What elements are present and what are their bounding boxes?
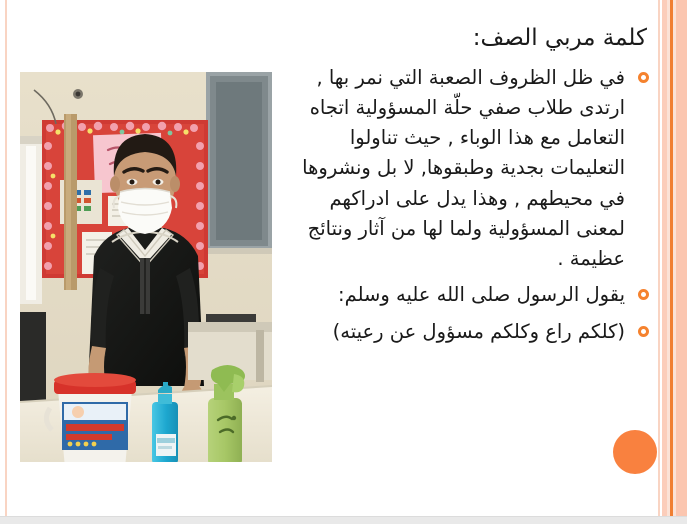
bullet-item-3: (كلكم راع وكلكم مسؤول عن رعيته) xyxy=(291,317,651,347)
band-stripe-1 xyxy=(658,0,660,517)
bullet-ring-icon xyxy=(638,326,649,337)
bullet-item-1: في ظل الظروف الصعبة التي نمر بها , ارتدى… xyxy=(291,63,651,275)
slide-text-column: كلمة مربي الصف: في ظل الظروف الصعبة التي… xyxy=(291,24,651,353)
bullet-text: (كلكم راع وكلكم مسؤول عن رعيته) xyxy=(333,320,625,343)
bullet-text: في ظل الظروف الصعبة التي نمر بها , ارتدى… xyxy=(302,66,625,270)
bottom-page-edge xyxy=(0,516,687,524)
bullet-ring-icon xyxy=(638,289,649,300)
slide-title: كلمة مربي الصف: xyxy=(291,24,651,53)
left-accent-rule xyxy=(5,0,7,517)
classroom-photo-image xyxy=(20,72,272,462)
bullet-list: في ظل الظروف الصعبة التي نمر بها , ارتدى… xyxy=(291,63,651,347)
bullet-item-2: يقول الرسول صلى الله عليه وسلم: xyxy=(291,280,651,310)
right-decorative-band xyxy=(656,0,687,517)
slide-canvas: كلمة مربي الصف: في ظل الظروف الصعبة التي… xyxy=(0,0,687,524)
orange-circle-decoration xyxy=(613,430,657,474)
bullet-text: يقول الرسول صلى الله عليه وسلم: xyxy=(338,283,625,306)
bullet-ring-icon xyxy=(638,72,649,83)
band-stripe-6 xyxy=(676,0,687,517)
classroom-photo xyxy=(20,72,272,462)
